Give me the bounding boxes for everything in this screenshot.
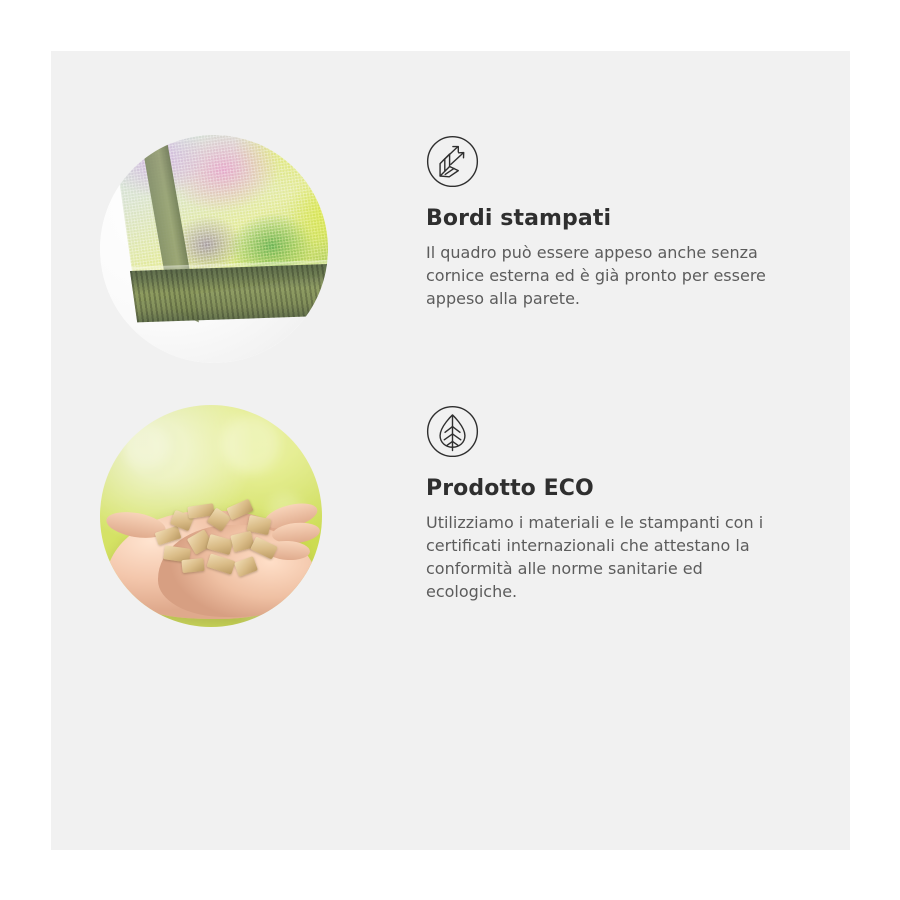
canvas-print-object (113, 135, 328, 347)
canvas-corner-photo (100, 135, 328, 363)
wood-chip (206, 553, 235, 574)
feature-block-eco-product: Prodotto ECO Utilizziamo i materiali e l… (100, 405, 840, 695)
wood-chip (155, 526, 182, 546)
photo-circle-mask (100, 135, 328, 363)
eco-hands-woodchips-photo (100, 405, 322, 627)
bokeh-spot (222, 415, 280, 473)
feature-title: Bordi stampati (426, 206, 826, 232)
wood-chips-pile (152, 503, 280, 577)
feature-text-eco-product: Prodotto ECO Utilizziamo i materiali e l… (426, 405, 826, 603)
bokeh-spot (124, 423, 170, 469)
wood-chip (181, 558, 204, 573)
canvas-wrapped-edge (130, 263, 328, 323)
cupped-hands (106, 487, 320, 619)
wood-chip (234, 556, 258, 577)
feature-title: Prodotto ECO (426, 476, 826, 502)
feature-description: Il quadro può essere appeso anche senza … (426, 241, 791, 310)
wood-chip (250, 536, 278, 559)
feature-text-printed-edges: Bordi stampati Il quadro può essere appe… (426, 135, 826, 310)
photo-circle-mask (100, 405, 322, 627)
feature-block-printed-edges: Bordi stampati Il quadro può essere appe… (100, 135, 840, 400)
leaf-icon (426, 405, 479, 458)
wood-chip (206, 534, 233, 555)
printed-edges-icon (426, 135, 479, 188)
product-feature-infographic: Bordi stampati Il quadro può essere appe… (0, 0, 900, 900)
feature-description: Utilizziamo i materiali e le stampanti c… (426, 511, 791, 603)
